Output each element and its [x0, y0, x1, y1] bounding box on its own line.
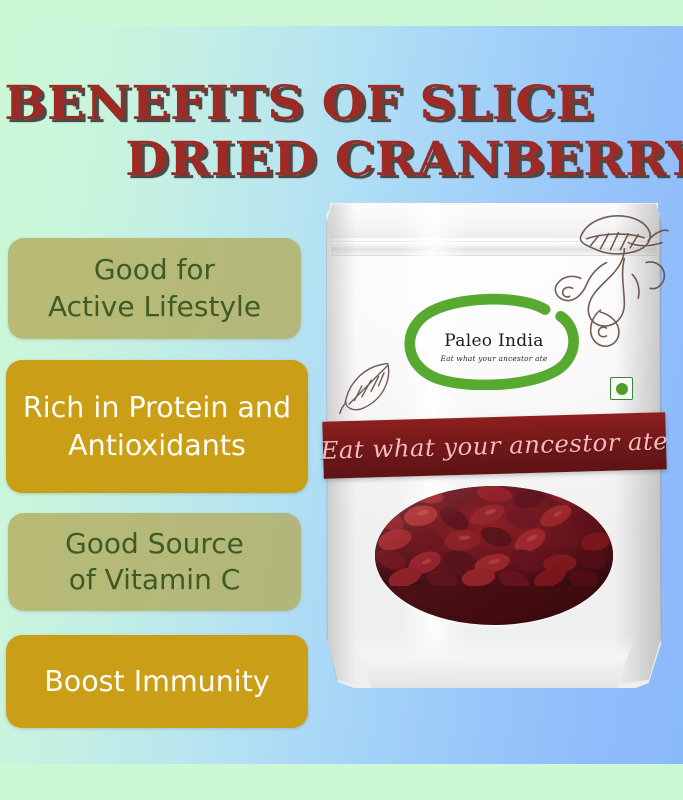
brand-tagline: Eat what your ancestor ate [397, 355, 592, 362]
benefit-line-2: Active Lifestyle [48, 290, 261, 323]
package-banner: Eat what your ancestor ate [322, 412, 666, 479]
benefit-line-1: Rich in Protein and [23, 391, 291, 424]
background-bottom-band [0, 764, 683, 800]
benefit-card-rich-in-protein-and-antioxidants[interactable]: Rich in Protein and Antioxidants [6, 360, 308, 493]
logo-text-block: Paleo India Eat what your ancestor ate [397, 333, 592, 362]
benefit-label: Boost Immunity [44, 663, 270, 700]
page-title: BENEFITS OF SLICE DRIED CRANBERRY [0, 76, 620, 189]
title-line-2: DRIED CRANBERRY [0, 132, 657, 188]
benefit-line-2: Antioxidants [68, 429, 246, 462]
title-line-1: BENEFITS OF SLICE [0, 76, 657, 132]
dried-cranberries-image [375, 486, 614, 585]
benefit-card-good-source-of-vitamin-c[interactable]: Good Source of Vitamin C [8, 513, 301, 611]
benefit-line-1: Good Source [65, 527, 244, 560]
infographic-canvas: BENEFITS OF SLICE DRIED CRANBERRY Good f… [0, 0, 683, 800]
brand-logo: Paleo India Eat what your ancestor ate [397, 293, 592, 392]
benefit-label: Good for Active Lifestyle [48, 252, 261, 325]
benefit-card-good-for-active-lifestyle[interactable]: Good for Active Lifestyle [8, 238, 301, 339]
brand-name: Paleo India [397, 333, 592, 350]
benefit-line-1: Boost Immunity [44, 665, 270, 698]
product-package[interactable]: Paleo India Eat what your ancestor ate E… [326, 196, 662, 692]
vegetarian-mark-icon [610, 377, 633, 400]
benefit-label: Good Source of Vitamin C [65, 526, 244, 599]
benefit-line-1: Good for [94, 253, 215, 286]
benefit-card-boost-immunity[interactable]: Boost Immunity [6, 635, 308, 728]
benefit-line-2: of Vitamin C [69, 563, 241, 596]
vegetarian-dot [616, 383, 628, 395]
background-top-band [0, 0, 683, 26]
banner-text: Eat what your ancestor ate [320, 426, 668, 464]
benefit-label: Rich in Protein and Antioxidants [23, 389, 291, 463]
product-window [375, 486, 614, 625]
